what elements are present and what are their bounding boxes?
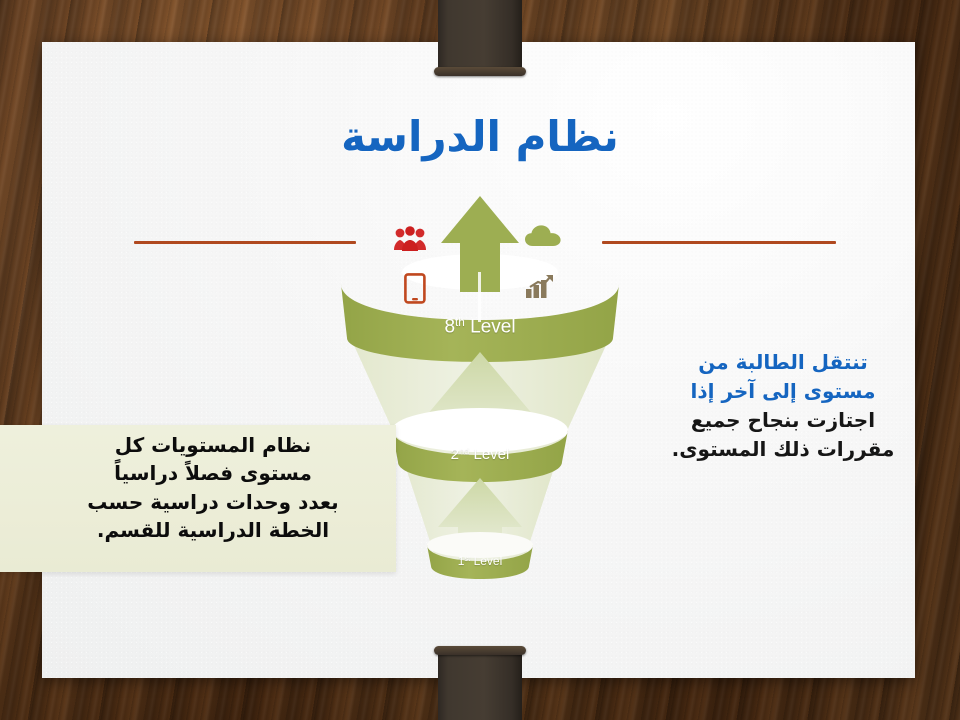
bottom-binder-clip-cap <box>434 646 526 655</box>
top-binder-clip-cap <box>434 67 526 76</box>
right-description-text: تنتقل الطالبة من مستوى إلى آخر إذا اجتاز… <box>658 348 908 464</box>
level-1-label: Level <box>474 554 503 568</box>
level-2-suffix: nd <box>459 446 469 456</box>
level-8-suffix: th <box>455 316 465 329</box>
decorative-rule-left <box>134 241 356 244</box>
callout-line-4: الخطة الدراسية للقسم. <box>48 516 378 544</box>
cloud-icon <box>524 224 562 252</box>
page-title: نظام الدراسة <box>0 112 960 161</box>
level-caption-8: 8th Level <box>0 316 960 338</box>
left-callout-box: نظام المستويات كل مستوى فصلاً دراسياً بع… <box>0 425 396 572</box>
level-1-suffix: st <box>464 554 470 563</box>
level-2-label: Level <box>474 446 510 463</box>
bar-chart-growth-icon <box>525 274 555 303</box>
bottom-binder-clip <box>438 648 522 720</box>
top-binder-clip <box>438 0 522 74</box>
callout-line-3: بعدد وحدات دراسية حسب <box>48 488 378 516</box>
right-text-line-3: اجتازت بنجاح جميع <box>658 406 908 435</box>
right-text-line-2: مستوى إلى آخر إذا <box>658 377 908 406</box>
right-text-line-4: مقررات ذلك المستوى. <box>658 435 908 464</box>
level-8-ordinal: 8 <box>444 316 455 337</box>
left-callout-text: نظام المستويات كل مستوى فصلاً دراسياً بع… <box>48 431 378 545</box>
callout-line-2: مستوى فصلاً دراسياً <box>48 459 378 487</box>
level-2-ordinal: 2 <box>451 446 459 463</box>
people-group-icon <box>393 226 427 256</box>
level-8-label: Level <box>470 316 515 337</box>
decorative-rule-right <box>602 241 836 244</box>
callout-line-1: نظام المستويات كل <box>48 431 378 459</box>
tablet-icon <box>404 273 426 308</box>
right-text-line-1: تنتقل الطالبة من <box>658 348 908 377</box>
